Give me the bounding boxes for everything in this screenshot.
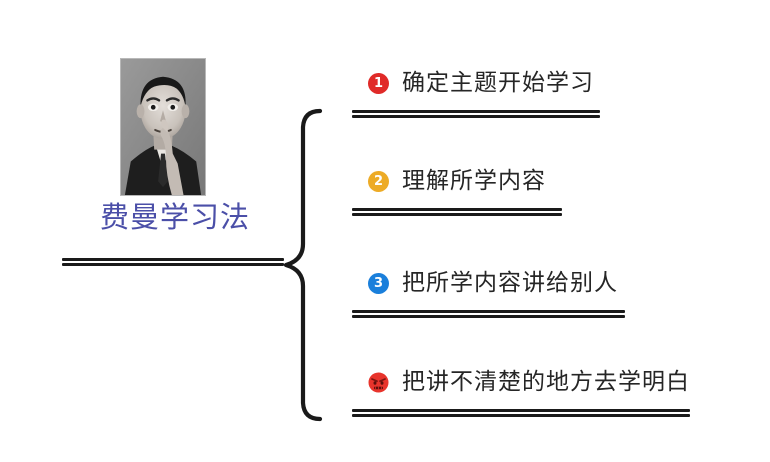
item-content: 2 理解所学内容 <box>368 168 546 194</box>
curly-brace-icon <box>282 108 324 422</box>
item-label: 把所学内容讲给别人 <box>402 270 618 296</box>
item-underline <box>352 208 562 216</box>
root-title: 费曼学习法 <box>60 198 290 236</box>
item-underline <box>352 110 600 118</box>
angry-face-emoji-icon <box>368 372 389 393</box>
item-underline <box>352 409 690 417</box>
badge-number-3: 3 <box>368 273 389 294</box>
root-underline <box>62 258 284 266</box>
feynman-portrait <box>120 58 206 196</box>
item-content: 3 把所学内容讲给别人 <box>368 270 618 296</box>
badge-number-2: 2 <box>368 171 389 192</box>
item-content: 1 确定主题开始学习 <box>368 70 594 96</box>
item-label: 把讲不清楚的地方去学明白 <box>402 369 690 395</box>
item-content: 把讲不清楚的地方去学明白 <box>368 369 690 395</box>
item-underline <box>352 310 625 318</box>
diagram-canvas: 费曼学习法 1 确定主题开始学习 2 理解所学内容 3 把所学内容讲给别人 <box>0 0 770 462</box>
item-label: 确定主题开始学习 <box>402 70 594 96</box>
item-label: 理解所学内容 <box>402 168 546 194</box>
badge-number-1: 1 <box>368 73 389 94</box>
